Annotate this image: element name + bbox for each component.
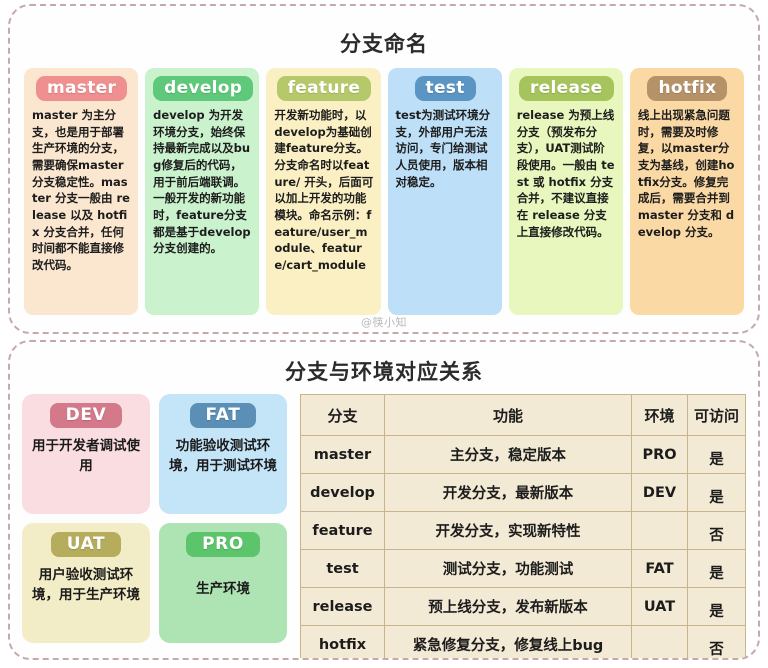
table-cell-function: 主分支，稳定版本 [385, 436, 632, 474]
env-card-fat: FAT功能验收测试环境，用于测试环境 [159, 394, 287, 514]
table-cell-branch: feature [301, 512, 385, 550]
section-title-branch-env: 分支与环境对应关系 [20, 356, 748, 386]
branch-card-feature: feature开发新功能时，以develop为基础创建feature分支。分支命… [266, 68, 380, 315]
table-cell-access: 是 [688, 436, 746, 474]
page-root: 分支命名 mastermaster 为主分支，也是用于部署生产环境的分支，需要确… [0, 0, 768, 668]
table-cell-access: 是 [688, 588, 746, 626]
table-cell-function: 预上线分支，发布新版本 [385, 588, 632, 626]
branch-card-description: test为测试环境分支，外部用户无法访问，专门给测试人员使用，版本相对稳定。 [396, 107, 495, 190]
table-row: master主分支，稳定版本PRO是 [301, 436, 746, 474]
table-header-env: 环境 [632, 395, 688, 436]
table-cell-access: 否 [688, 512, 746, 550]
branch-card-description: master 为主分支，也是用于部署生产环境的分支，需要确保master分支稳定… [32, 107, 131, 274]
table-cell-env [632, 512, 688, 550]
env-card-dev: DEV用于开发者调试使用 [22, 394, 150, 514]
table-row: release预上线分支，发布新版本UAT是 [301, 588, 746, 626]
branch-env-panel: 分支与环境对应关系 DEV用于开发者调试使用FAT功能验收测试环境，用于测试环境… [8, 340, 760, 660]
table-cell-env: UAT [632, 588, 688, 626]
branch-card-develop: developdevelop 为开发环境分支，始终保持最新完成以及bug修复后的… [145, 68, 259, 315]
table-row: develop开发分支，最新版本DEV是 [301, 474, 746, 512]
table-cell-access: 是 [688, 550, 746, 588]
table-header-function: 功能 [385, 395, 632, 436]
table-cell-branch: develop [301, 474, 385, 512]
branch-card-description: release 为预上线分支（预发布分支），UAT测试阶段使用。一般由 test… [517, 107, 616, 240]
branch-card-description: develop 为开发环境分支，始终保持最新完成以及bug修复后的代码，用于前后… [153, 107, 252, 257]
env-card-description: 功能验收测试环境，用于测试环境 [165, 436, 281, 477]
branch-badge-release: release [519, 76, 614, 101]
table-header-branch: 分支 [301, 395, 385, 436]
env-card-description: 生产环境 [165, 565, 281, 599]
branch-badge-hotfix: hotfix [647, 76, 727, 101]
branch-badge-develop: develop [153, 76, 253, 101]
table-cell-env: DEV [632, 474, 688, 512]
table-cell-branch: hotfix [301, 626, 385, 661]
branch-card-description: 开发新功能时，以develop为基础创建feature分支。分支命名时以feat… [274, 107, 373, 274]
table-row: hotfix紧急修复分支，修复线上bug否 [301, 626, 746, 661]
branch-env-content: DEV用于开发者调试使用FAT功能验收测试环境，用于测试环境UAT用户验收测试环… [20, 394, 748, 660]
branch-card-release: releaserelease 为预上线分支（预发布分支），UAT测试阶段使用。一… [509, 68, 623, 315]
table-cell-access: 是 [688, 474, 746, 512]
table-cell-env [632, 626, 688, 661]
table-cell-function: 开发分支，实现新特性 [385, 512, 632, 550]
watermark: @筷小知 [10, 314, 758, 330]
branch-card-hotfix: hotfix线上出现紧急问题时，需要及时修复，以master分支为基线，创建ho… [630, 68, 744, 315]
table-row: feature开发分支，实现新特性否 [301, 512, 746, 550]
env-badge-pro: PRO [186, 532, 260, 557]
table-cell-branch: test [301, 550, 385, 588]
branch-badge-master: master [36, 76, 127, 101]
branch-naming-panel: 分支命名 mastermaster 为主分支，也是用于部署生产环境的分支，需要确… [8, 4, 760, 334]
table-header-access: 可访问 [688, 395, 746, 436]
env-card-description: 用户验收测试环境，用于生产环境 [28, 565, 144, 606]
branch-card-test: testtest为测试环境分支，外部用户无法访问，专门给测试人员使用，版本相对稳… [388, 68, 502, 315]
env-badge-fat: FAT [190, 403, 257, 428]
env-cards-grid: DEV用于开发者调试使用FAT功能验收测试环境，用于测试环境UAT用户验收测试环… [22, 394, 290, 660]
table-row: test测试分支，功能测试FAT是 [301, 550, 746, 588]
branch-badge-test: test [415, 76, 476, 101]
table-body: master主分支，稳定版本PRO是develop开发分支，最新版本DEV是fe… [301, 436, 746, 661]
table-cell-branch: release [301, 588, 385, 626]
env-badge-dev: DEV [50, 403, 123, 428]
table-cell-branch: master [301, 436, 385, 474]
table-header-row: 分支功能环境可访问 [301, 395, 746, 436]
branch-cards-row: mastermaster 为主分支，也是用于部署生产环境的分支，需要确保mast… [20, 68, 748, 315]
table-cell-function: 开发分支，最新版本 [385, 474, 632, 512]
env-card-description: 用于开发者调试使用 [28, 436, 144, 477]
table-cell-access: 否 [688, 626, 746, 661]
branch-card-description: 线上出现紧急问题时，需要及时修复，以master分支为基线，创建hotfix分支… [638, 107, 737, 240]
branch-badge-feature: feature [277, 76, 372, 101]
branch-table-wrapper: 分支功能环境可访问 master主分支，稳定版本PRO是develop开发分支，… [300, 394, 746, 660]
page-title: 分支命名 [20, 28, 748, 58]
env-card-uat: UAT用户验收测试环境，用于生产环境 [22, 523, 150, 643]
table-head: 分支功能环境可访问 [301, 395, 746, 436]
env-badge-uat: UAT [51, 532, 122, 557]
branch-env-table: 分支功能环境可访问 master主分支，稳定版本PRO是develop开发分支，… [300, 394, 746, 660]
table-cell-env: PRO [632, 436, 688, 474]
branch-card-master: mastermaster 为主分支，也是用于部署生产环境的分支，需要确保mast… [24, 68, 138, 315]
table-cell-function: 测试分支，功能测试 [385, 550, 632, 588]
env-card-pro: PRO生产环境 [159, 523, 287, 643]
table-cell-function: 紧急修复分支，修复线上bug [385, 626, 632, 661]
table-cell-env: FAT [632, 550, 688, 588]
